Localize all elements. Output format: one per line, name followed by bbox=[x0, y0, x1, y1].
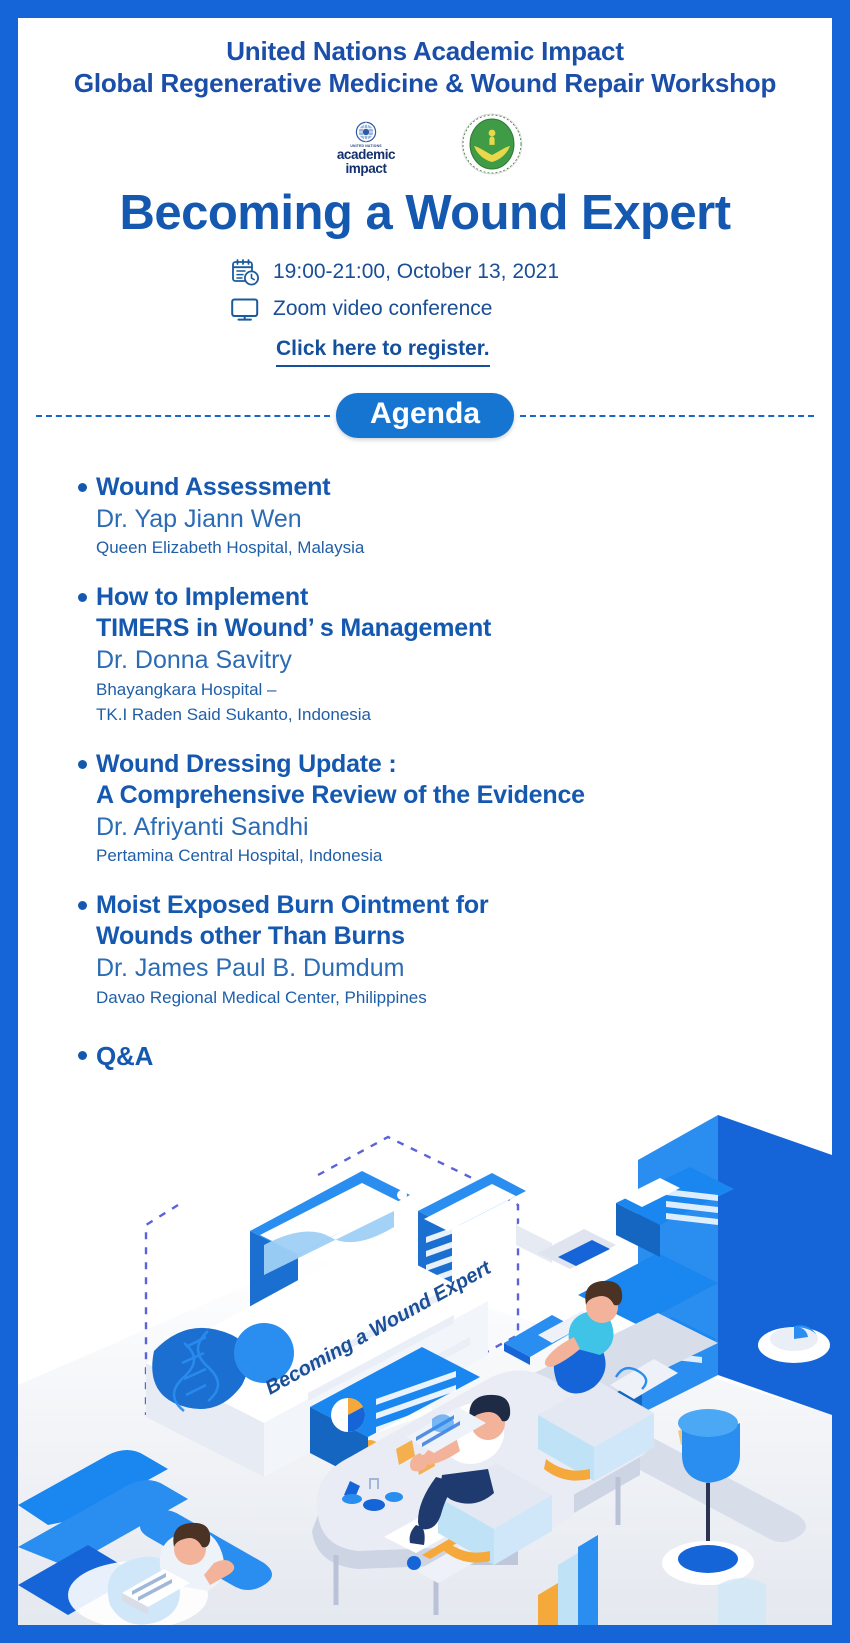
agenda-item-title: Q&A bbox=[96, 1040, 832, 1072]
agenda-item: Wound Assessment Dr. Yap Jiann Wen Queen… bbox=[96, 472, 832, 560]
bullet-icon bbox=[78, 483, 87, 492]
agenda-item: Wound Dressing Update : A Comprehensive … bbox=[96, 749, 832, 868]
agenda-affiliation: Pertamina Central Hospital, Indonesia bbox=[96, 845, 832, 868]
academic-impact-logo: UNITED NATIONS academic impact bbox=[327, 121, 405, 175]
agenda-item-title: Wound Assessment bbox=[96, 472, 832, 503]
agenda-speaker: Dr. Yap Jiann Wen bbox=[96, 504, 832, 536]
divider-dash-left bbox=[36, 415, 330, 417]
agenda-qa-label: Q&A bbox=[96, 1041, 153, 1071]
agenda-title-line-2: TIMERS in Wound’ s Management bbox=[96, 613, 832, 644]
agenda-item-title: How to Implement TIMERS in Wound’ s Mana… bbox=[96, 582, 832, 644]
green-medical-seal-icon bbox=[461, 113, 523, 175]
agenda-affiliation-2: TK.I Raden Said Sukanto, Indonesia bbox=[96, 704, 832, 727]
agenda-affiliation: Bhayangkara Hospital – bbox=[96, 679, 832, 702]
register-row: Click here to register. bbox=[230, 337, 620, 367]
agenda-list: Wound Assessment Dr. Yap Jiann Wen Queen… bbox=[18, 438, 832, 1072]
page-title: Becoming a Wound Expert bbox=[18, 185, 832, 241]
agenda-speaker: Dr. James Paul B. Dumdum bbox=[96, 953, 832, 985]
bullet-icon bbox=[78, 760, 87, 769]
agenda-affiliation: Davao Regional Medical Center, Philippin… bbox=[96, 987, 832, 1010]
bullet-icon bbox=[78, 593, 87, 602]
meta-row-platform: Zoom video conference bbox=[230, 294, 620, 324]
agenda-title-line-1: How to Implement bbox=[96, 583, 308, 611]
meta-date-text: 19:00-21:00, October 13, 2021 bbox=[273, 260, 559, 284]
header: United Nations Academic Impact Global Re… bbox=[18, 18, 832, 99]
register-link[interactable]: Click here to register. bbox=[276, 337, 490, 367]
agenda-speaker: Dr. Donna Savitry bbox=[96, 645, 832, 677]
agenda-item: Moist Exposed Burn Ointment for Wounds o… bbox=[96, 890, 832, 1009]
agenda-item: How to Implement TIMERS in Wound’ s Mana… bbox=[96, 582, 832, 726]
agenda-divider: Agenda bbox=[18, 393, 832, 438]
header-line-1: United Nations Academic Impact bbox=[18, 36, 832, 68]
isometric-illustration: Becoming a Wound Expert bbox=[18, 1085, 832, 1625]
agenda-title-line-2: A Comprehensive Review of the Evidence bbox=[96, 780, 832, 811]
event-meta: 19:00-21:00, October 13, 2021 Zoom video… bbox=[18, 257, 832, 367]
agenda-title-line-2: Wounds other Than Burns bbox=[96, 921, 832, 952]
agenda-affiliation: Queen Elizabeth Hospital, Malaysia bbox=[96, 537, 832, 560]
poster-frame: United Nations Academic Impact Global Re… bbox=[0, 0, 850, 1643]
divider-dash-right bbox=[520, 415, 814, 417]
meta-row-date: 19:00-21:00, October 13, 2021 bbox=[230, 257, 620, 287]
agenda-title-line-1: Wound Assessment bbox=[96, 473, 330, 501]
bullet-icon bbox=[78, 1051, 87, 1060]
calendar-clock-icon bbox=[230, 257, 260, 287]
agenda-item-title: Wound Dressing Update : A Comprehensive … bbox=[96, 749, 832, 811]
agenda-title-line-1: Moist Exposed Burn Ointment for bbox=[96, 891, 488, 919]
header-line-2: Global Regenerative Medicine & Wound Rep… bbox=[18, 68, 832, 100]
agenda-badge: Agenda bbox=[336, 393, 514, 438]
agenda-speaker: Dr. Afriyanti Sandhi bbox=[96, 812, 832, 844]
bullet-icon bbox=[78, 901, 87, 910]
academic-impact-word-2: impact bbox=[345, 162, 386, 176]
monitor-icon bbox=[230, 294, 260, 324]
agenda-item-qa: Q&A bbox=[96, 1040, 832, 1072]
poster-sheet: United Nations Academic Impact Global Re… bbox=[18, 18, 832, 1625]
agenda-title-line-1: Wound Dressing Update : bbox=[96, 750, 397, 778]
logo-row: UNITED NATIONS academic impact bbox=[18, 113, 832, 175]
agenda-item-title: Moist Exposed Burn Ointment for Wounds o… bbox=[96, 890, 832, 952]
un-emblem-icon bbox=[353, 121, 379, 143]
meta-platform-text: Zoom video conference bbox=[273, 297, 492, 321]
academic-impact-word-1: academic bbox=[337, 148, 395, 162]
